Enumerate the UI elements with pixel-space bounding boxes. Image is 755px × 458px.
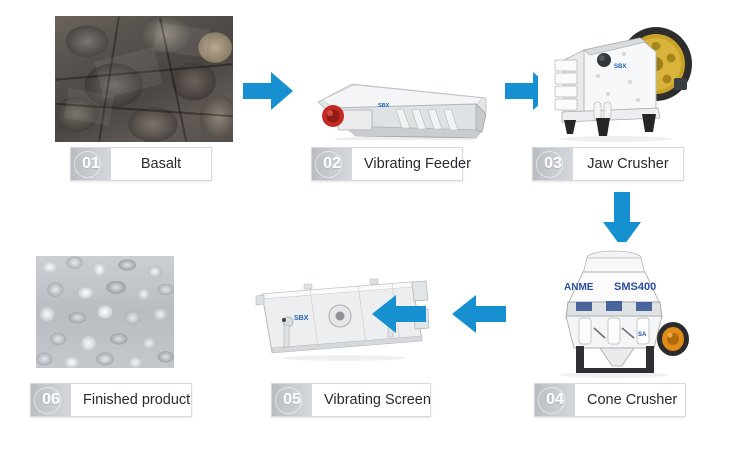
step-number-02: 02: [312, 148, 352, 180]
step-number-04: 04: [535, 384, 575, 416]
svg-text:SBX: SBX: [614, 64, 626, 70]
step-text-05: Vibrating Screen: [312, 384, 443, 416]
finished-product-photo: [36, 256, 174, 368]
step-number-01: 01: [71, 148, 111, 180]
step-number-05: 05: [272, 384, 312, 416]
cone-crusher-model-text: SMS400: [614, 281, 656, 293]
step-text-06: Finished product: [71, 384, 202, 416]
step-label-01[interactable]: 01 Basalt: [70, 147, 212, 181]
svg-text:SBX: SBX: [378, 103, 390, 109]
arrow-basalt-to-feeder: [243, 69, 293, 113]
step-label-06[interactable]: 06 Finished product: [30, 383, 192, 417]
flow-diagram: SBX: [0, 0, 755, 458]
step-text-02: Vibrating Feeder: [352, 148, 483, 180]
step-label-02[interactable]: 02 Vibrating Feeder: [311, 147, 463, 181]
step-label-05[interactable]: 05 Vibrating Screen: [271, 383, 431, 417]
step-text-03: Jaw Crusher: [573, 148, 683, 180]
step-number-06: 06: [31, 384, 71, 416]
vibrating-feeder-photo: SBX: [300, 40, 492, 140]
basalt-rock-photo: [55, 16, 233, 142]
step-label-04[interactable]: 04 Cone Crusher: [534, 383, 686, 417]
arrow-jaw-to-cone: [600, 192, 644, 248]
cone-crusher-photo: ANME SMS400 SA: [542, 242, 694, 378]
svg-text:SA: SA: [638, 332, 647, 338]
step-text-04: Cone Crusher: [575, 384, 689, 416]
jaw-crusher-photo: SBX: [538, 16, 694, 142]
step-text-01: Basalt: [111, 148, 211, 180]
arrow-cone-to-screen: [452, 292, 506, 336]
svg-text:SBX: SBX: [294, 315, 309, 322]
step-number-03: 03: [533, 148, 573, 180]
cone-crusher-brand-text: ANME: [564, 282, 594, 293]
step-label-03[interactable]: 03 Jaw Crusher: [532, 147, 684, 181]
